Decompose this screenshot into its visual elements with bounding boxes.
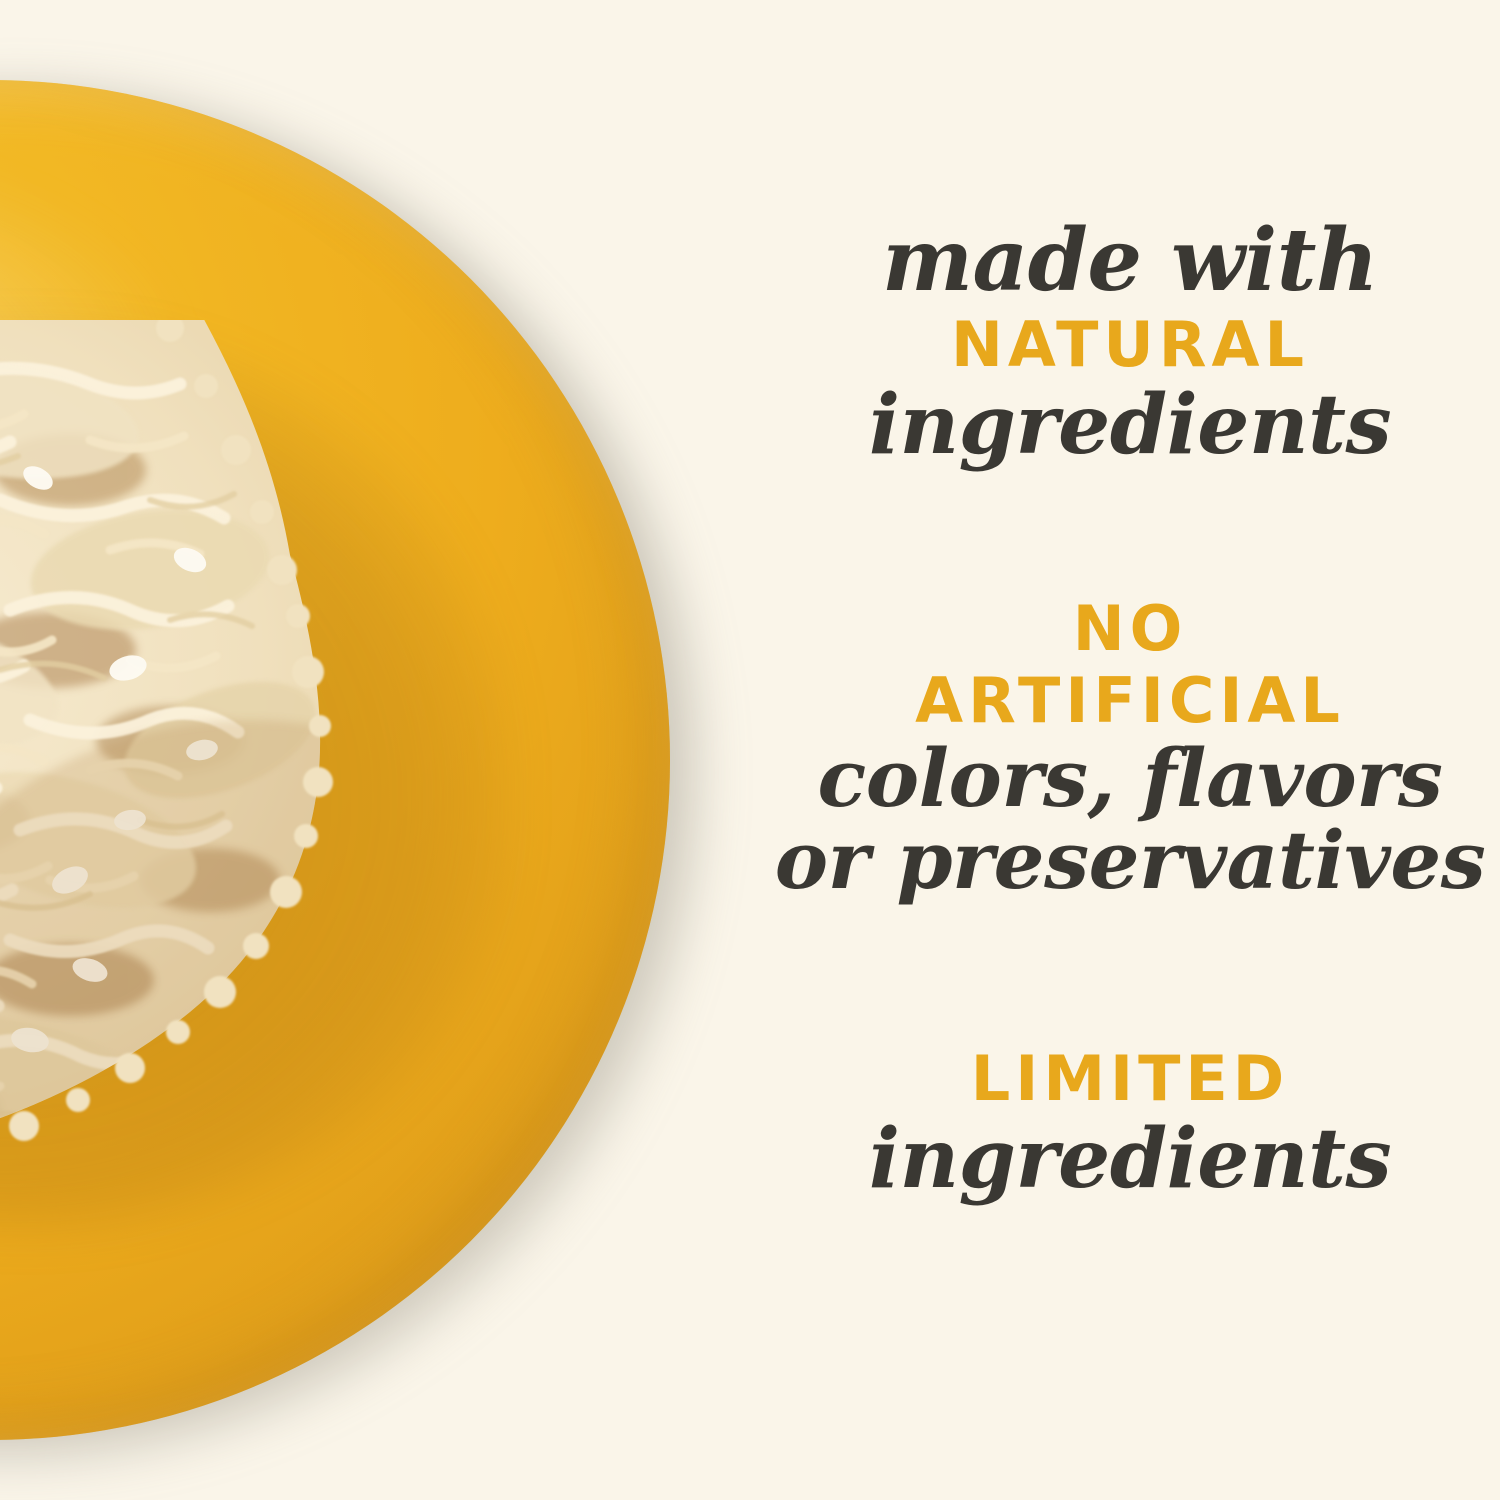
claim-natural: made with NATURAL ingredients (760, 218, 1500, 466)
claim-limited-line1: LIMITED (760, 1048, 1500, 1118)
shredded-chicken-mound (0, 320, 480, 1200)
food-photo (0, 0, 760, 1500)
claim-no-artificial-line1: NO (760, 598, 1500, 670)
claim-no-artificial: NO ARTIFICIAL colors, flavors or preserv… (760, 598, 1500, 900)
claim-natural-line1: made with (760, 218, 1500, 314)
claim-natural-line2: NATURAL (760, 314, 1500, 384)
product-feature-graphic: made with NATURAL ingredients NO ARTIFIC… (0, 0, 1500, 1500)
claim-natural-line3: ingredients (760, 384, 1500, 466)
claims-panel: made with NATURAL ingredients NO ARTIFIC… (760, 0, 1500, 1500)
claim-no-artificial-line4: or preservatives (760, 820, 1500, 900)
claim-limited-line2: ingredients (760, 1118, 1500, 1200)
claim-limited: LIMITED ingredients (760, 1048, 1500, 1200)
claim-no-artificial-line3: colors, flavors (760, 738, 1500, 820)
claim-no-artificial-line2: ARTIFICIAL (760, 670, 1500, 738)
